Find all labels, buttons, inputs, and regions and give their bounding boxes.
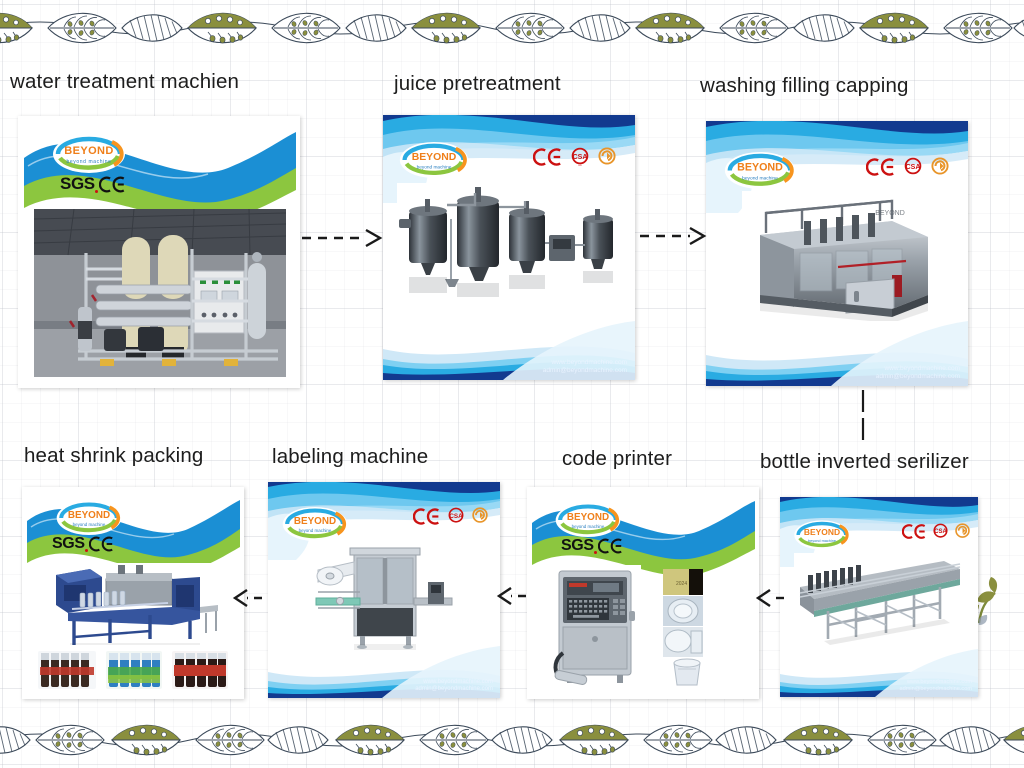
email-address: admin@beyondmachine.com — [876, 373, 960, 380]
logo-subtext: beyond machine — [808, 539, 836, 543]
logo-subtext: beyond machine — [742, 175, 778, 181]
panel-washing-filling-capping[interactable]: BEYOND beyond machine CSA — [706, 121, 968, 386]
logo-text: BEYOND — [68, 510, 110, 521]
beyond-logo: BEYOND beyond machine — [280, 504, 350, 549]
leaf-vine-border-top — [0, 0, 1024, 54]
logo-text: BEYOND — [737, 162, 783, 174]
ce-mark-icon — [533, 148, 563, 166]
stage-label-labeling-machine: labeling machine — [272, 445, 428, 469]
contact-info: www.beyondmachine.com admin@beyondmachin… — [415, 679, 493, 693]
csa-label: CSA — [449, 513, 463, 520]
logo-text: BEYOND — [567, 512, 609, 523]
quality-cert-icon — [597, 147, 617, 167]
logo-text: BEYOND — [412, 152, 457, 163]
panel-code-printer[interactable]: BEYOND beyond machine SGS — [527, 487, 759, 699]
website-url: www.beyondmachine.com — [899, 679, 972, 685]
website-url: www.beyondmachine.com — [543, 359, 627, 366]
beyond-logo: BEYOND beyond machine — [397, 139, 471, 186]
logo-text: BEYOND — [804, 527, 840, 537]
contact-info: www.beyondmachine.com admin@beyondmachin… — [899, 679, 972, 692]
machine-photo-inkjet-date-code-printer — [549, 565, 641, 687]
panel-labeling-machine[interactable]: BEYOND beyond machine CSA — [268, 482, 500, 698]
logo-text: BEYOND — [64, 145, 113, 157]
stage-label-washing-filling-capping: washing filling capping — [700, 74, 909, 98]
svg-text:2024: 2024 — [676, 581, 687, 587]
logo-text: BEYOND — [294, 516, 336, 527]
stage-label-code-printer: code printer — [562, 447, 672, 471]
email-address: admin@beyondmachine.com — [543, 367, 627, 374]
ce-mark-icon — [413, 508, 441, 525]
certification-row: CSA — [413, 507, 489, 525]
csa-label: CSA — [573, 154, 588, 161]
sample-bucket-product — [669, 655, 705, 689]
stage-label-juice-pretreatment: juice pretreatment — [394, 72, 561, 96]
csa-mark-icon: CSA — [932, 523, 949, 540]
panel-heat-shrink-packing[interactable]: BEYOND beyond machine SGS — [22, 487, 244, 699]
certification-row: CSA us — [533, 147, 617, 167]
machine-photo-bottle-inverted-sterilizing-conveyor — [794, 553, 966, 645]
csa-mark-icon: CSA — [447, 507, 465, 525]
quality-cert-icon — [930, 157, 950, 177]
flow-chart-page: water treatment machien juice pretreatme… — [0, 0, 1024, 768]
website-url: www.beyondmachine.com — [876, 365, 960, 372]
website-url: www.beyondmachine.com — [415, 679, 493, 686]
contact-info: www.beyondmachine.com admin@beyondmachin… — [876, 365, 960, 380]
machine-photo-rotary-washing-filling-capping-monobloc: BEYOND — [742, 191, 942, 321]
ce-mark-icon — [902, 524, 927, 539]
panel-bottle-inverted-serilizer[interactable]: BEYOND beyond machine CSA — [780, 497, 978, 697]
stage-label-water-treatment: water treatment machien — [10, 70, 239, 94]
logo-subtext: beyond machine — [417, 165, 452, 171]
stage-label-bottle-inverted-serilizer: bottle inverted serilizer — [760, 450, 969, 474]
beyond-logo: BEYOND beyond machine — [722, 149, 798, 197]
csa-label: CSA — [934, 529, 947, 535]
csa-mark-icon: CSA us — [570, 147, 590, 167]
certification-row: CSA — [866, 157, 950, 177]
connector-arrow-water-to-juice — [300, 226, 384, 255]
csa-label: CSA — [906, 164, 921, 171]
logo-subtext: beyond machine — [66, 159, 111, 165]
sample-coded-products-strip: 2024 — [663, 569, 703, 657]
quality-cert-icon — [471, 507, 489, 525]
ce-mark-icon — [866, 158, 896, 176]
connector-line-washing-to-sterilizer — [856, 388, 870, 453]
beyond-logo: BEYOND beyond machine — [553, 500, 623, 545]
machine-photo-sleeve-labeling-machine — [310, 540, 460, 650]
connector-arrow-juice-to-washing — [638, 224, 708, 253]
leaf-vine-border-bottom — [0, 714, 1024, 768]
machine-photo-heat-shrink-wrapping-machine — [50, 563, 220, 649]
email-address: admin@beyondmachine.com — [899, 686, 972, 692]
logo-subtext: beyond machine — [73, 522, 106, 527]
email-address: admin@beyondmachine.com — [415, 686, 493, 693]
csa-mark-icon: CSA — [903, 157, 923, 177]
logo-subtext: beyond machine — [572, 524, 605, 529]
machine-photo-reverse-osmosis-water-treatment-system — [34, 209, 286, 377]
beyond-logo: BEYOND beyond machine — [54, 498, 124, 543]
machine-photo-juice-mixing-tanks-line — [397, 183, 623, 303]
logo-subtext: beyond machine — [299, 528, 332, 533]
quality-cert-icon — [954, 523, 971, 540]
panel-juice-pretreatment[interactable]: BEYOND beyond machine CSA us — [383, 115, 635, 380]
beyond-logo: BEYOND beyond machine — [792, 518, 852, 557]
connector-arrow-code-printer-to-labeling — [496, 584, 528, 613]
svg-text:us: us — [578, 163, 582, 167]
certification-row: CSA — [902, 523, 971, 540]
shrink-wrapped-product-samples — [36, 645, 232, 693]
panel-water-treatment[interactable]: BEYOND beyond machine SGS — [18, 116, 300, 388]
stage-label-heat-shrink-packing: heat shrink packing — [24, 444, 203, 468]
beyond-logo: BEYOND beyond machine — [50, 132, 128, 181]
svg-text:BEYOND: BEYOND — [875, 210, 905, 217]
contact-info: www.beyondmachine.com admin@beyondmachin… — [543, 359, 627, 374]
